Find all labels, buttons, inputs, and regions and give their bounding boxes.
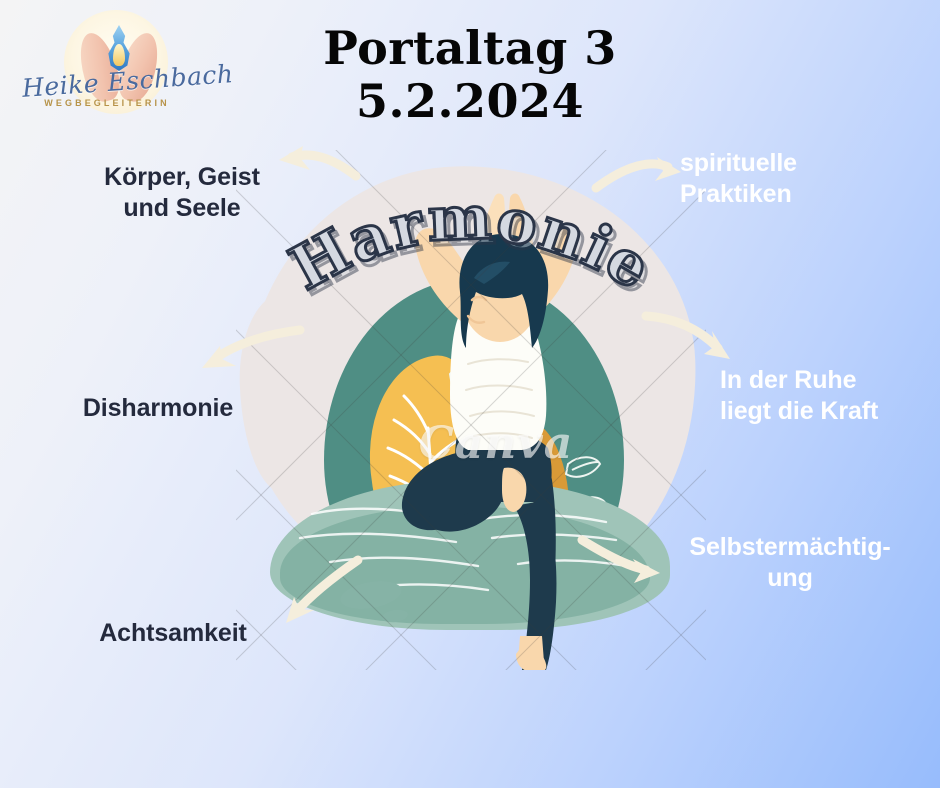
label-line-2: Praktiken <box>680 179 900 210</box>
label-line-1: Körper, Geist <box>72 162 292 193</box>
label-in-der-ruhe: In der Ruhe liegt die Kraft <box>720 365 930 426</box>
label-spirituelle-praktiken: spirituelle Praktiken <box>680 148 900 209</box>
harmonie-arched-title: Harmonie Harmonie <box>236 150 706 350</box>
poster-canvas: Heike Eschbach WEGBEGLEITERIN Portaltag … <box>0 0 940 788</box>
label-line-1: Selbstermächtig- <box>660 532 920 563</box>
title-line-2: 5.2.2024 <box>0 75 940 128</box>
label-line-2: und Seele <box>72 193 292 224</box>
title-line-1: Portaltag 3 <box>0 22 940 75</box>
label-koerper-geist-seele: Körper, Geist und Seele <box>72 162 292 223</box>
svg-text:Harmonie: Harmonie <box>279 183 663 305</box>
label-line-2: liegt die Kraft <box>720 396 930 427</box>
label-line-1: spirituelle <box>680 148 900 179</box>
center-illustration: Canva Harmonie Harmonie <box>236 150 706 670</box>
label-line-1: In der Ruhe <box>720 365 930 396</box>
label-line-1: Achtsamkeit <box>58 618 288 649</box>
label-selbstermaechtigung: Selbstermächtig- ung <box>660 532 920 593</box>
label-achtsamkeit: Achtsamkeit <box>58 618 288 649</box>
label-line-2: ung <box>660 563 920 594</box>
page-title: Portaltag 3 5.2.2024 <box>0 22 940 129</box>
label-line-1: Disharmonie <box>38 393 278 424</box>
label-disharmonie: Disharmonie <box>38 393 278 424</box>
